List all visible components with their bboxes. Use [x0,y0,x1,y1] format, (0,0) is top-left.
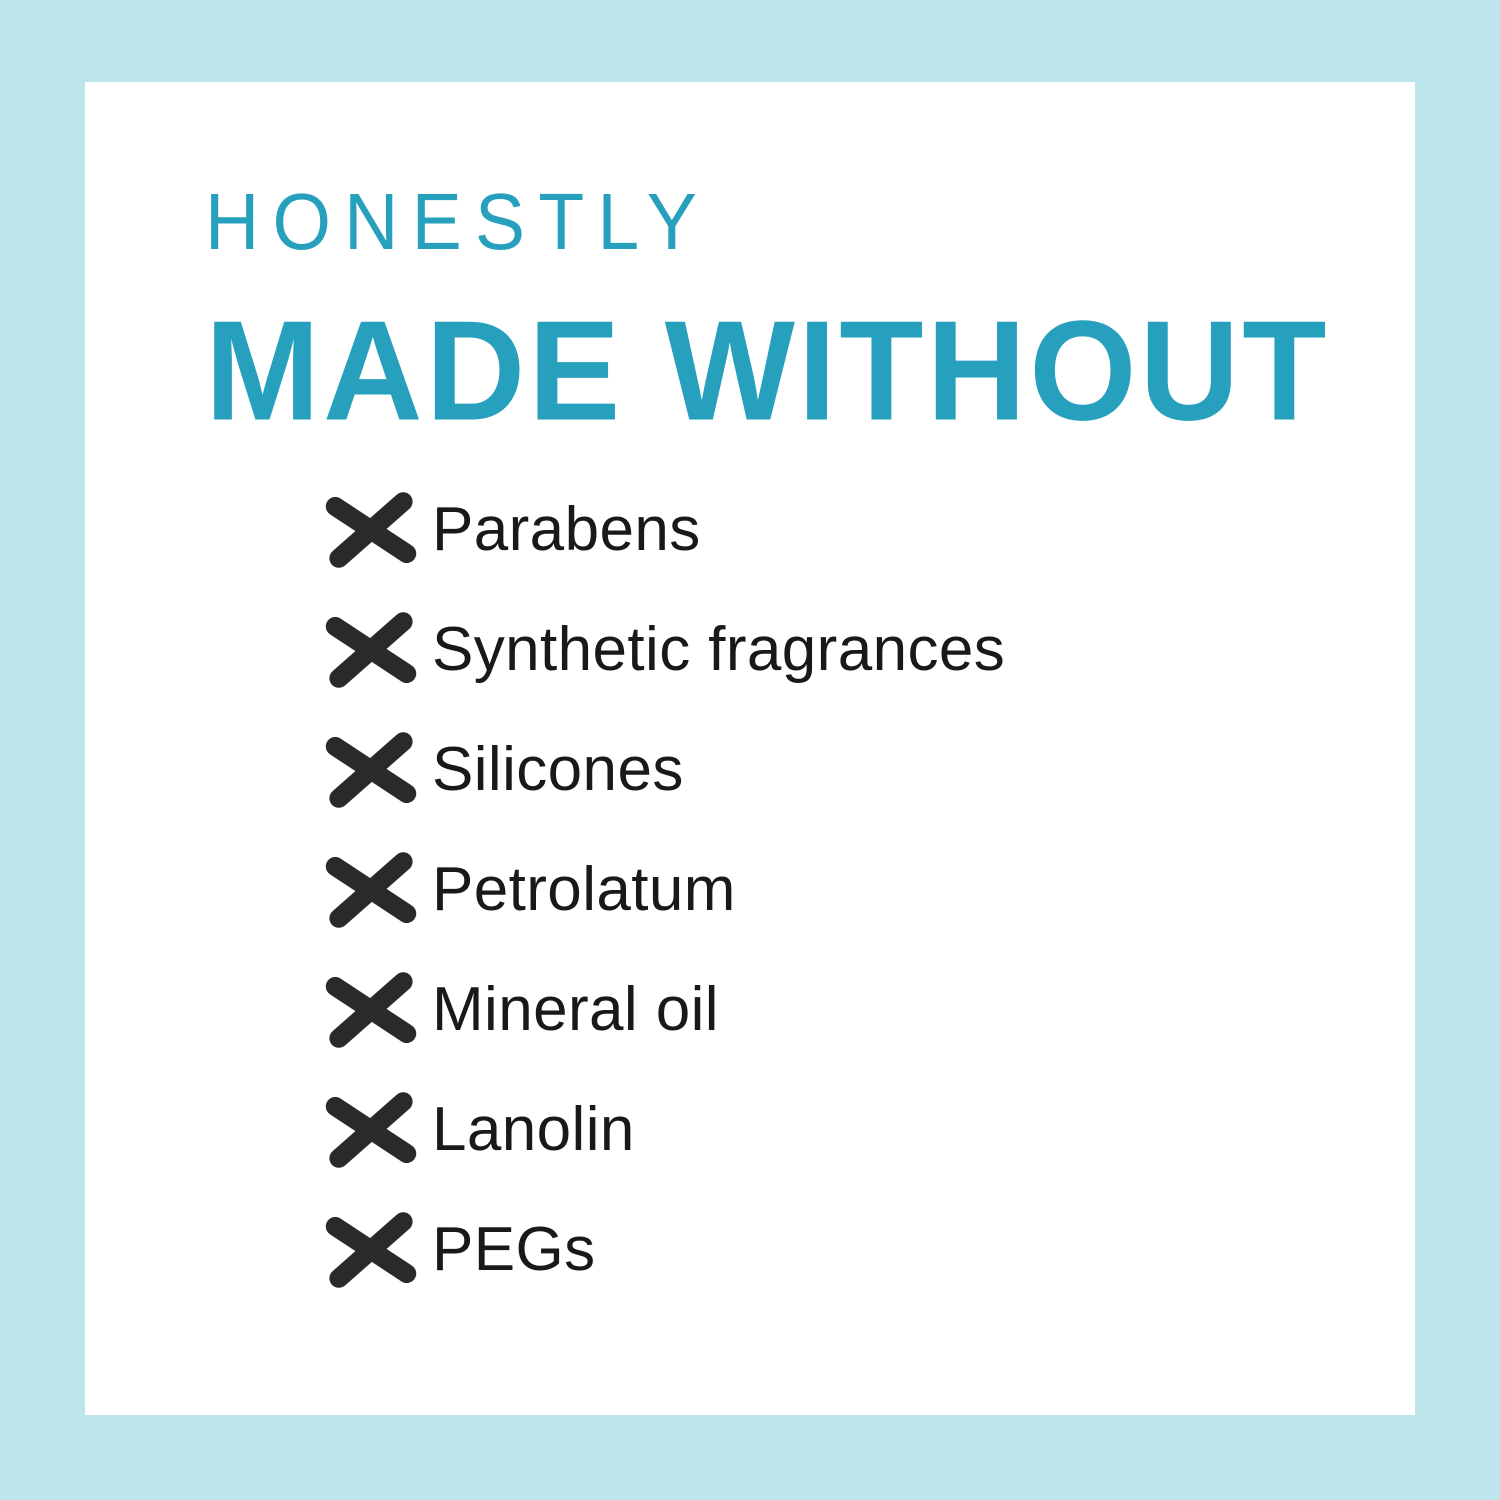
list-item-label: Parabens [432,499,701,561]
heading-block: HONESTLY MADE WITHOUT [205,182,1355,438]
list-item: PEGs [310,1190,1005,1310]
eyebrow-heading: HONESTLY [205,182,1286,262]
claims-list: Parabens Synthetic fragrances [310,470,1005,1310]
list-item: Parabens [310,470,1005,590]
x-mark-icon [310,969,432,1051]
list-item: Mineral oil [310,950,1005,1070]
x-mark-icon [310,1209,432,1291]
list-item: Silicones [310,710,1005,830]
list-item: Synthetic fragrances [310,590,1005,710]
list-item-label: PEGs [432,1219,596,1281]
list-item-label: Synthetic fragrances [432,619,1005,681]
list-item-label: Lanolin [432,1099,635,1161]
list-item-label: Mineral oil [432,979,719,1041]
list-item-label: Silicones [432,739,684,801]
x-mark-icon [310,609,432,691]
white-content-panel: HONESTLY MADE WITHOUT Parabens [85,82,1415,1415]
poster-canvas: HONESTLY MADE WITHOUT Parabens [0,0,1500,1500]
list-item-label: Petrolatum [432,859,736,921]
main-heading: MADE WITHOUT [205,300,1355,442]
x-mark-icon [310,1089,432,1171]
x-mark-icon [310,489,432,571]
x-mark-icon [310,849,432,931]
list-item: Petrolatum [310,830,1005,950]
list-item: Lanolin [310,1070,1005,1190]
x-mark-icon [310,729,432,811]
